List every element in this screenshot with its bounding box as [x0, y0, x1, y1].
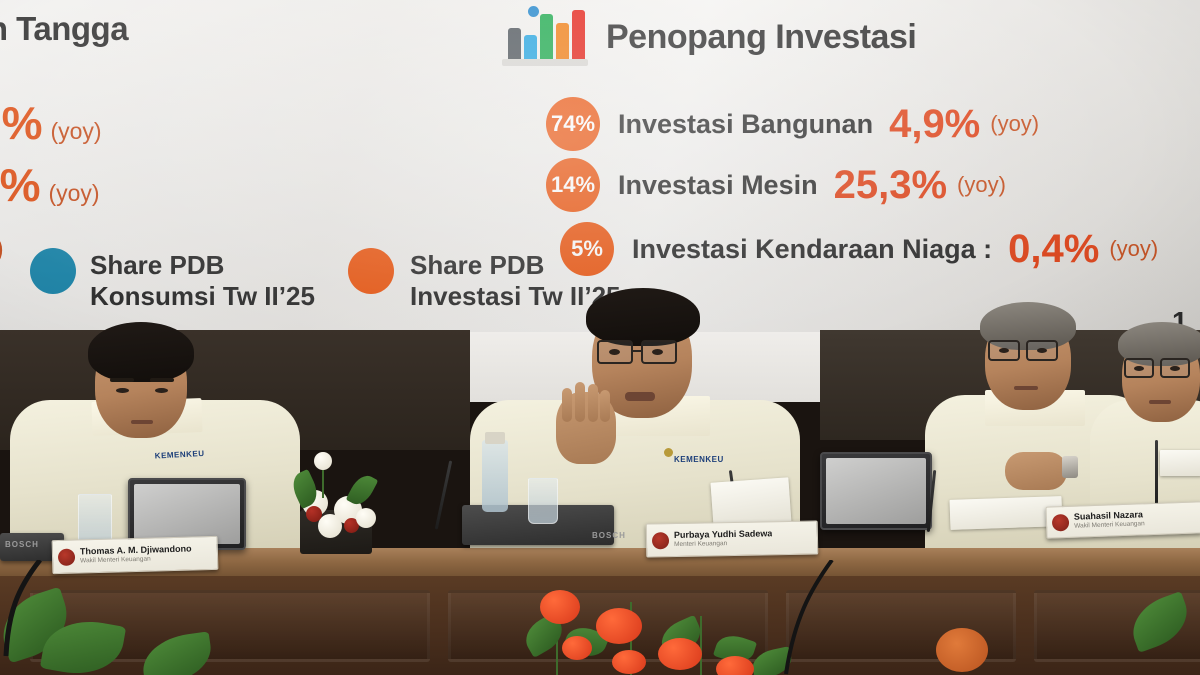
investment-value-mesin: 25,3%: [834, 163, 947, 208]
left-metric-2-yoy: (yoy): [48, 180, 99, 206]
purbaya-finger-1: [562, 388, 572, 422]
tablet-right-screen[interactable]: [826, 458, 926, 524]
investment-header: Penopang Investasi: [500, 6, 916, 68]
investment-yoy-kendaraan: (yoy): [1109, 236, 1158, 262]
flower-dark-1: [306, 506, 322, 522]
purbaya-finger-3: [588, 384, 598, 422]
flower-white-3: [318, 514, 342, 538]
investment-panel-title: Penopang Investasi: [606, 18, 916, 57]
far-right-eye-left: [1134, 366, 1144, 371]
purbaya-hair: [586, 288, 700, 346]
investment-row-mesin: 14% Investasi Mesin 25,3% (yoy): [546, 158, 1006, 212]
left-metric-2-value: 5%: [0, 159, 40, 211]
water-bottle-cap: [485, 432, 505, 444]
left-metric-1-yoy: (yoy): [50, 118, 101, 144]
nameplate-text-suahasil: Suahasil Nazara Wakil Menteri Keuangan: [1074, 511, 1145, 530]
cable-icon: [0, 560, 220, 675]
suahasil-eye-left: [999, 348, 1009, 353]
thomas-eye-right: [155, 388, 168, 393]
ixora-cluster-7: [936, 628, 988, 672]
bar-chart-icon: [500, 6, 592, 68]
investment-label-mesin: Investasi Mesin: [618, 170, 818, 201]
investment-yoy-mesin: (yoy): [957, 172, 1006, 198]
purbaya-shirt-logo: KEMENKEU: [674, 455, 734, 473]
left-panel-metric-1: 2%(yoy): [0, 96, 102, 150]
investment-yoy-bangunan: (yoy): [990, 111, 1039, 137]
investment-label-kendaraan: Investasi Kendaraan Niaga :: [632, 234, 992, 265]
nameplate-suahasil: Suahasil Nazara Wakil Menteri Keuangan: [1045, 501, 1200, 538]
purbaya-eye-right: [652, 349, 663, 355]
purbaya-mouth: [625, 392, 655, 401]
papers-far-right: [1160, 450, 1200, 476]
nameplate-purbaya: Purbaya Yudhi Sadewa Menteri Keuangan: [646, 521, 819, 558]
left-panel-title: ah Tangga: [0, 10, 128, 48]
suahasil-eye-right: [1037, 348, 1047, 353]
presentation-screen: ah Tangga 2%(yoy) 5%(yoy) ) Share PDB Ko…: [0, 0, 1200, 345]
far-right-eye-right: [1170, 366, 1180, 371]
nameplate-text-purbaya: Purbaya Yudhi Sadewa Menteri Keuangan: [674, 530, 773, 549]
konsumsi-legend-line-2: Konsumsi Tw II’25: [90, 281, 315, 312]
ixora-cluster-1: [540, 590, 580, 624]
thomas-brow-right: [150, 378, 174, 382]
bar-1: [508, 28, 521, 60]
water-bottle-center: [482, 440, 508, 512]
mic-stem-left: [435, 460, 452, 529]
share-pdb-investasi-dot-icon: [348, 248, 394, 294]
suahasil-hands: [1005, 452, 1067, 490]
nameplate-emblem-suahasil: [1052, 513, 1070, 531]
share-bubble-mesin: 14%: [546, 158, 600, 212]
flower-white-5: [314, 452, 332, 470]
nameplate-role-purbaya: Menteri Keuangan: [674, 540, 772, 549]
mic-brand-left: BOSCH: [5, 540, 39, 549]
left-panel-paren-partial: ): [0, 232, 4, 266]
investasi-legend-line-1: Share PDB: [410, 250, 621, 281]
thomas-mouth: [131, 420, 153, 424]
share-bubble-bangunan: 74%: [546, 97, 600, 151]
purbaya-finger-2: [575, 382, 585, 422]
bar-4: [556, 23, 569, 60]
share-pdb-konsumsi-dot-icon: [30, 248, 76, 294]
bar-5: [572, 10, 585, 60]
mic-stem-far-right: [1155, 440, 1158, 512]
nameplate-emblem-purbaya: [652, 532, 669, 549]
investment-label-bangunan: Investasi Bangunan: [618, 109, 873, 140]
investment-row-kendaraan: 5% Investasi Kendaraan Niaga : 0,4% (yoy…: [560, 222, 1158, 276]
thomas-brow-left: [110, 378, 134, 382]
bar-chart-bars: [508, 10, 585, 60]
thomas-hair: [88, 322, 194, 382]
purbaya-glasses-bridge: [633, 350, 641, 352]
investment-row-bangunan: 74% Investasi Bangunan 4,9% (yoy): [546, 97, 1039, 151]
cable-icon-2: [580, 560, 860, 675]
purbaya-eye-left: [609, 349, 620, 355]
investment-value-bangunan: 4,9%: [889, 102, 980, 147]
flower-white-4: [356, 508, 376, 528]
bar-3: [540, 14, 553, 60]
water-glass-left: [78, 494, 112, 544]
water-glass-center: [528, 478, 558, 524]
tablet-left-screen[interactable]: [134, 484, 240, 544]
tablet-right[interactable]: [820, 452, 932, 530]
share-pdb-konsumsi-legend: Share PDB Konsumsi Tw II’25: [90, 250, 315, 311]
press-conference-scene: ah Tangga 2%(yoy) 5%(yoy) ) Share PDB Ko…: [0, 0, 1200, 675]
share-pdb-investasi-legend: Share PDB Investasi Tw II’25: [410, 250, 621, 311]
investment-value-kendaraan: 0,4%: [1008, 227, 1099, 272]
thomas-eye-left: [116, 388, 129, 393]
bar-2: [524, 35, 537, 60]
thomas-shirt-logo: KEMENKEU: [155, 448, 214, 469]
suahasil-watch: [1062, 456, 1078, 478]
left-metric-1-value: 2%: [0, 97, 42, 149]
left-panel-metric-2: 5%(yoy): [0, 158, 100, 212]
far-right-mouth: [1149, 400, 1171, 404]
konsumsi-legend-line-1: Share PDB: [90, 250, 315, 281]
bar-chart-base: [502, 59, 588, 66]
nameplate-role-suahasil: Wakil Menteri Keuangan: [1074, 521, 1145, 531]
suahasil-mouth: [1014, 386, 1038, 390]
purbaya-finger-4: [600, 390, 610, 422]
mic-brand-center: BOSCH: [592, 531, 626, 540]
purbaya-shirt-emblem: [664, 448, 673, 457]
